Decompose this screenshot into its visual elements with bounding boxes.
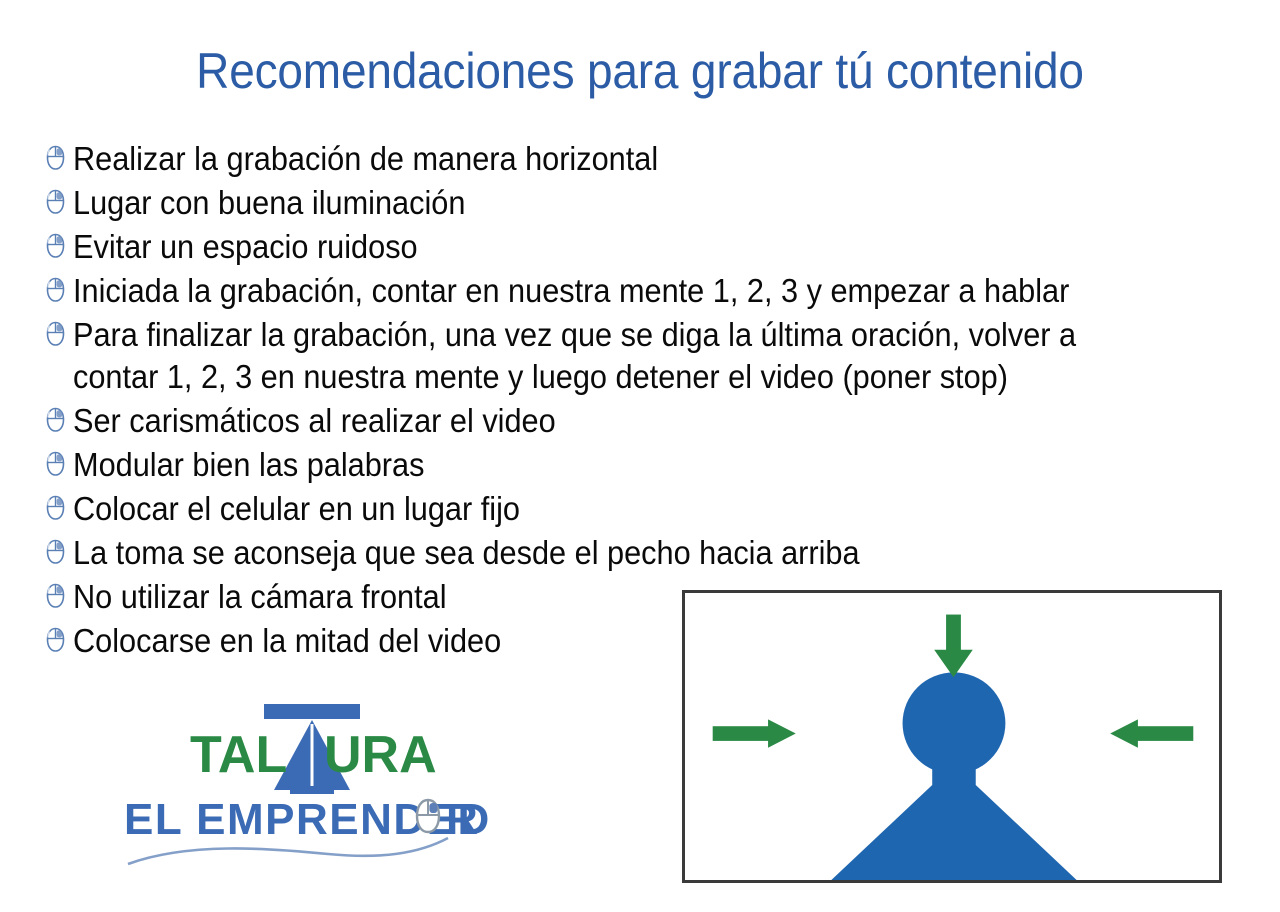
logo-brand-part-2: URA xyxy=(324,726,437,784)
computer-mouse-icon xyxy=(44,581,68,611)
list-item: Lugar con buena iluminación xyxy=(44,182,1224,224)
computer-mouse-icon xyxy=(44,143,68,173)
logo-mouse-icon xyxy=(417,800,439,832)
list-item: Para finalizar la grabación, una vez que… xyxy=(44,314,1224,398)
computer-mouse-icon xyxy=(44,319,68,349)
list-item: Ser carismáticos al realizar el video xyxy=(44,400,1224,442)
arrow-right-icon xyxy=(713,719,796,747)
list-item: Iniciada la grabación, contar en nuestra… xyxy=(44,270,1224,312)
list-item: Colocar el celular en un lugar fijo xyxy=(44,488,1224,530)
list-item-label: Ser carismáticos al realizar el video xyxy=(73,400,1143,442)
arrow-down-icon xyxy=(934,615,973,678)
arrow-left-icon xyxy=(1110,719,1193,747)
computer-mouse-icon xyxy=(44,405,68,435)
list-item-label: Evitar un espacio ruidoso xyxy=(73,226,1143,268)
list-item: Modular bien las palabras xyxy=(44,444,1224,486)
computer-mouse-icon xyxy=(44,231,68,261)
computer-mouse-icon xyxy=(44,537,68,567)
computer-mouse-icon xyxy=(44,625,68,655)
list-item-label: Lugar con buena iluminación xyxy=(73,182,1143,224)
list-item-label: Realizar la grabación de manera horizont… xyxy=(73,138,1143,180)
slide-canvas: Recomendaciones para grabar tú contenido… xyxy=(0,0,1280,912)
list-item-label: Iniciada la grabación, contar en nuestra… xyxy=(73,270,1143,312)
list-item-label: La toma se aconseja que sea desde el pec… xyxy=(73,532,1143,574)
recommendations-list: Realizar la grabación de manera horizont… xyxy=(44,138,1224,664)
list-item-label: Modular bien las palabras xyxy=(73,444,1143,486)
page-title: Recomendaciones para grabar tú contenido xyxy=(51,44,1229,99)
computer-mouse-icon xyxy=(44,275,68,305)
computer-mouse-icon xyxy=(44,493,68,523)
brand-logo: TAL URA EL EMPRENDED R xyxy=(118,698,508,873)
computer-mouse-icon xyxy=(44,449,68,479)
computer-mouse-icon xyxy=(44,187,68,217)
logo-brand-part-1: TAL xyxy=(190,726,287,784)
list-item: Evitar un espacio ruidoso xyxy=(44,226,1224,268)
list-item-label: Colocar el celular en un lugar fijo xyxy=(73,488,1143,530)
logo-tagline-part-2: R xyxy=(446,795,479,844)
person-silhouette xyxy=(831,672,1076,880)
framing-diagram xyxy=(682,590,1222,883)
list-item: La toma se aconseja que sea desde el pec… xyxy=(44,532,1224,574)
list-item-label: Para finalizar la grabación, una vez que… xyxy=(73,314,1143,398)
list-item: Realizar la grabación de manera horizont… xyxy=(44,138,1224,180)
